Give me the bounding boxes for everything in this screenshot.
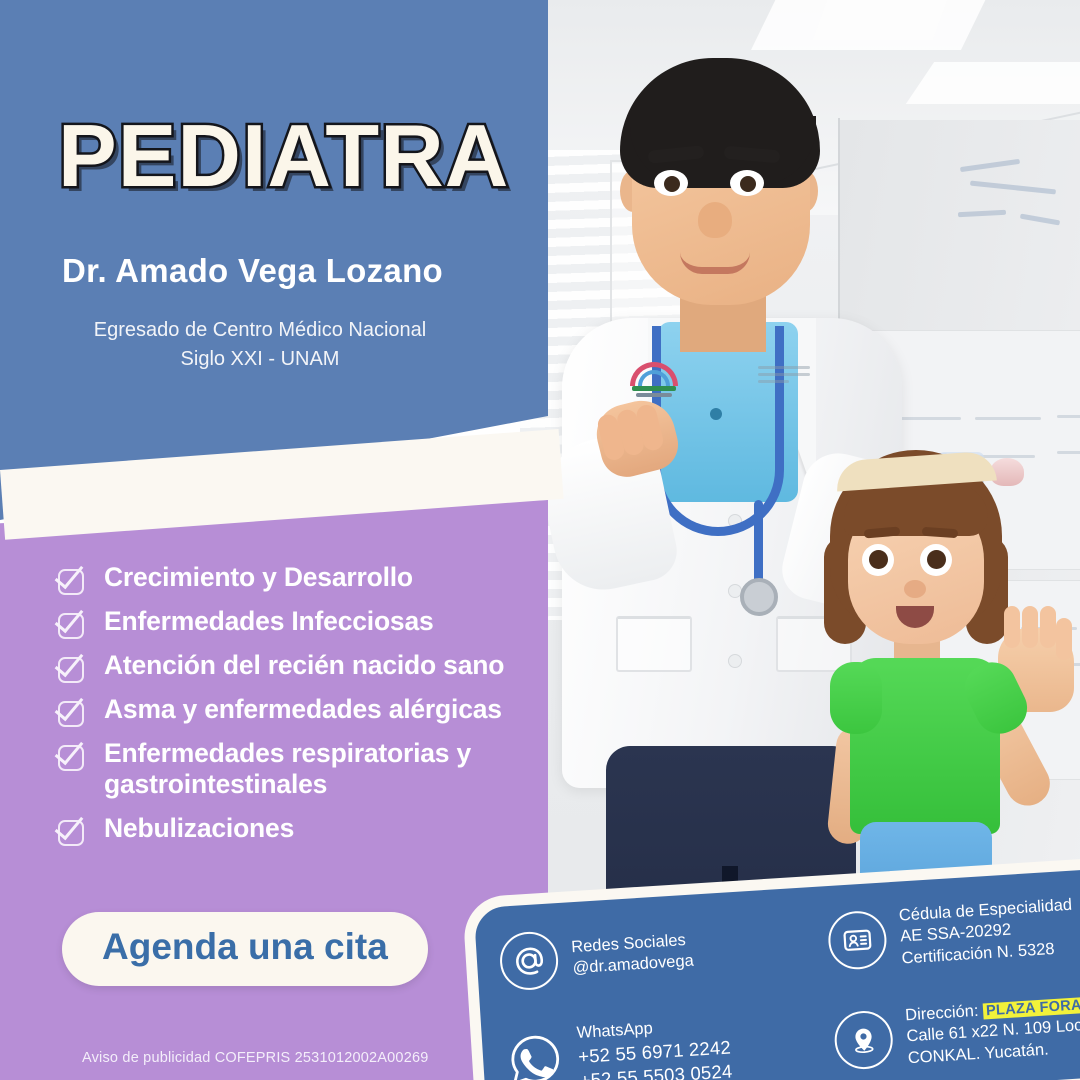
contact-social-text: Redes Sociales @dr.amadovega (571, 929, 695, 979)
child-nose (904, 580, 926, 598)
checkbox-icon (58, 566, 88, 596)
service-item: Nebulizaciones (58, 813, 578, 847)
child-eye (920, 544, 952, 576)
contact-license: Cédula de Especialidad AE SSA-20292 Cert… (826, 890, 1080, 974)
contact-license-text: Cédula de Especialidad AE SSA-20292 Cert… (898, 895, 1075, 970)
service-item: Enfermedades respiratorias y gastrointes… (58, 738, 578, 799)
doctor-hair (620, 58, 820, 188)
contact-whatsapp[interactable]: WhatsApp +52 55 6971 2242 +52 55 5503 05… (504, 1008, 831, 1080)
education-line-2: Siglo XXI - UNAM (0, 345, 520, 374)
service-item: Asma y enfermedades alérgicas (58, 694, 578, 728)
service-label: Enfermedades respiratorias y gastrointes… (104, 738, 556, 799)
stethoscope-chestpiece (740, 578, 778, 616)
child-sleeve (830, 662, 882, 734)
coat-logo-badge (626, 360, 682, 400)
location-pin-icon (833, 1009, 895, 1071)
checkbox-icon (58, 742, 88, 772)
child-eye (862, 544, 894, 576)
id-card-icon (827, 909, 889, 971)
at-icon (498, 930, 560, 992)
checkbox-icon (58, 698, 88, 728)
whatsapp-icon (505, 1030, 567, 1080)
contact-address: Dirección: PLAZA FORA Calle 61 x22 N. 10… (833, 990, 1080, 1074)
stethoscope-tube (754, 500, 763, 586)
coat-button (728, 654, 742, 668)
coat-name-tag (758, 366, 810, 388)
service-label: Atención del recién nacido sano (104, 650, 504, 681)
service-item: Crecimiento y Desarrollo (58, 562, 578, 596)
doctor-name: Dr. Amado Vega Lozano (62, 252, 443, 290)
service-label: Crecimiento y Desarrollo (104, 562, 413, 593)
coat-pocket (616, 616, 692, 672)
appointment-cta-button[interactable]: Agenda una cita (62, 912, 428, 986)
checkbox-icon (58, 654, 88, 684)
service-label: Asma y enfermedades alérgicas (104, 694, 502, 725)
service-item: Atención del recién nacido sano (58, 650, 578, 684)
education-line-1: Egresado de Centro Médico Nacional (0, 316, 520, 345)
services-list: Crecimiento y Desarrollo Enfermedades In… (58, 562, 578, 857)
checkbox-icon (58, 610, 88, 640)
poster-canvas: PEDIATRA Dr. Amado Vega Lozano Egresado … (0, 0, 1080, 1080)
wall-artwork (950, 155, 1080, 250)
address-label: Dirección: (905, 1002, 979, 1025)
contact-social[interactable]: Redes Sociales @dr.amadovega (498, 914, 824, 992)
doctor-eye (730, 170, 764, 196)
service-item: Enfermedades Infecciosas (58, 606, 578, 640)
child-hair-fringe (844, 484, 988, 536)
advertising-disclaimer: Aviso de publicidad COFEPRIS 2531012002A… (82, 1050, 429, 1066)
child-mouth (896, 606, 934, 628)
checkbox-icon (58, 817, 88, 847)
doctor-mouth (680, 252, 750, 274)
contact-whatsapp-text: WhatsApp +52 55 6971 2242 +52 55 5503 05… (576, 1014, 733, 1080)
education-block: Egresado de Centro Médico Nacional Siglo… (0, 316, 520, 374)
doctor-eye (654, 170, 688, 196)
doctor-nose (698, 202, 732, 238)
service-label: Nebulizaciones (104, 813, 294, 844)
page-title: PEDIATRA (58, 112, 509, 200)
service-label: Enfermedades Infecciosas (104, 606, 434, 637)
contact-address-text: Dirección: PLAZA FORA Calle 61 x22 N. 10… (905, 992, 1080, 1070)
